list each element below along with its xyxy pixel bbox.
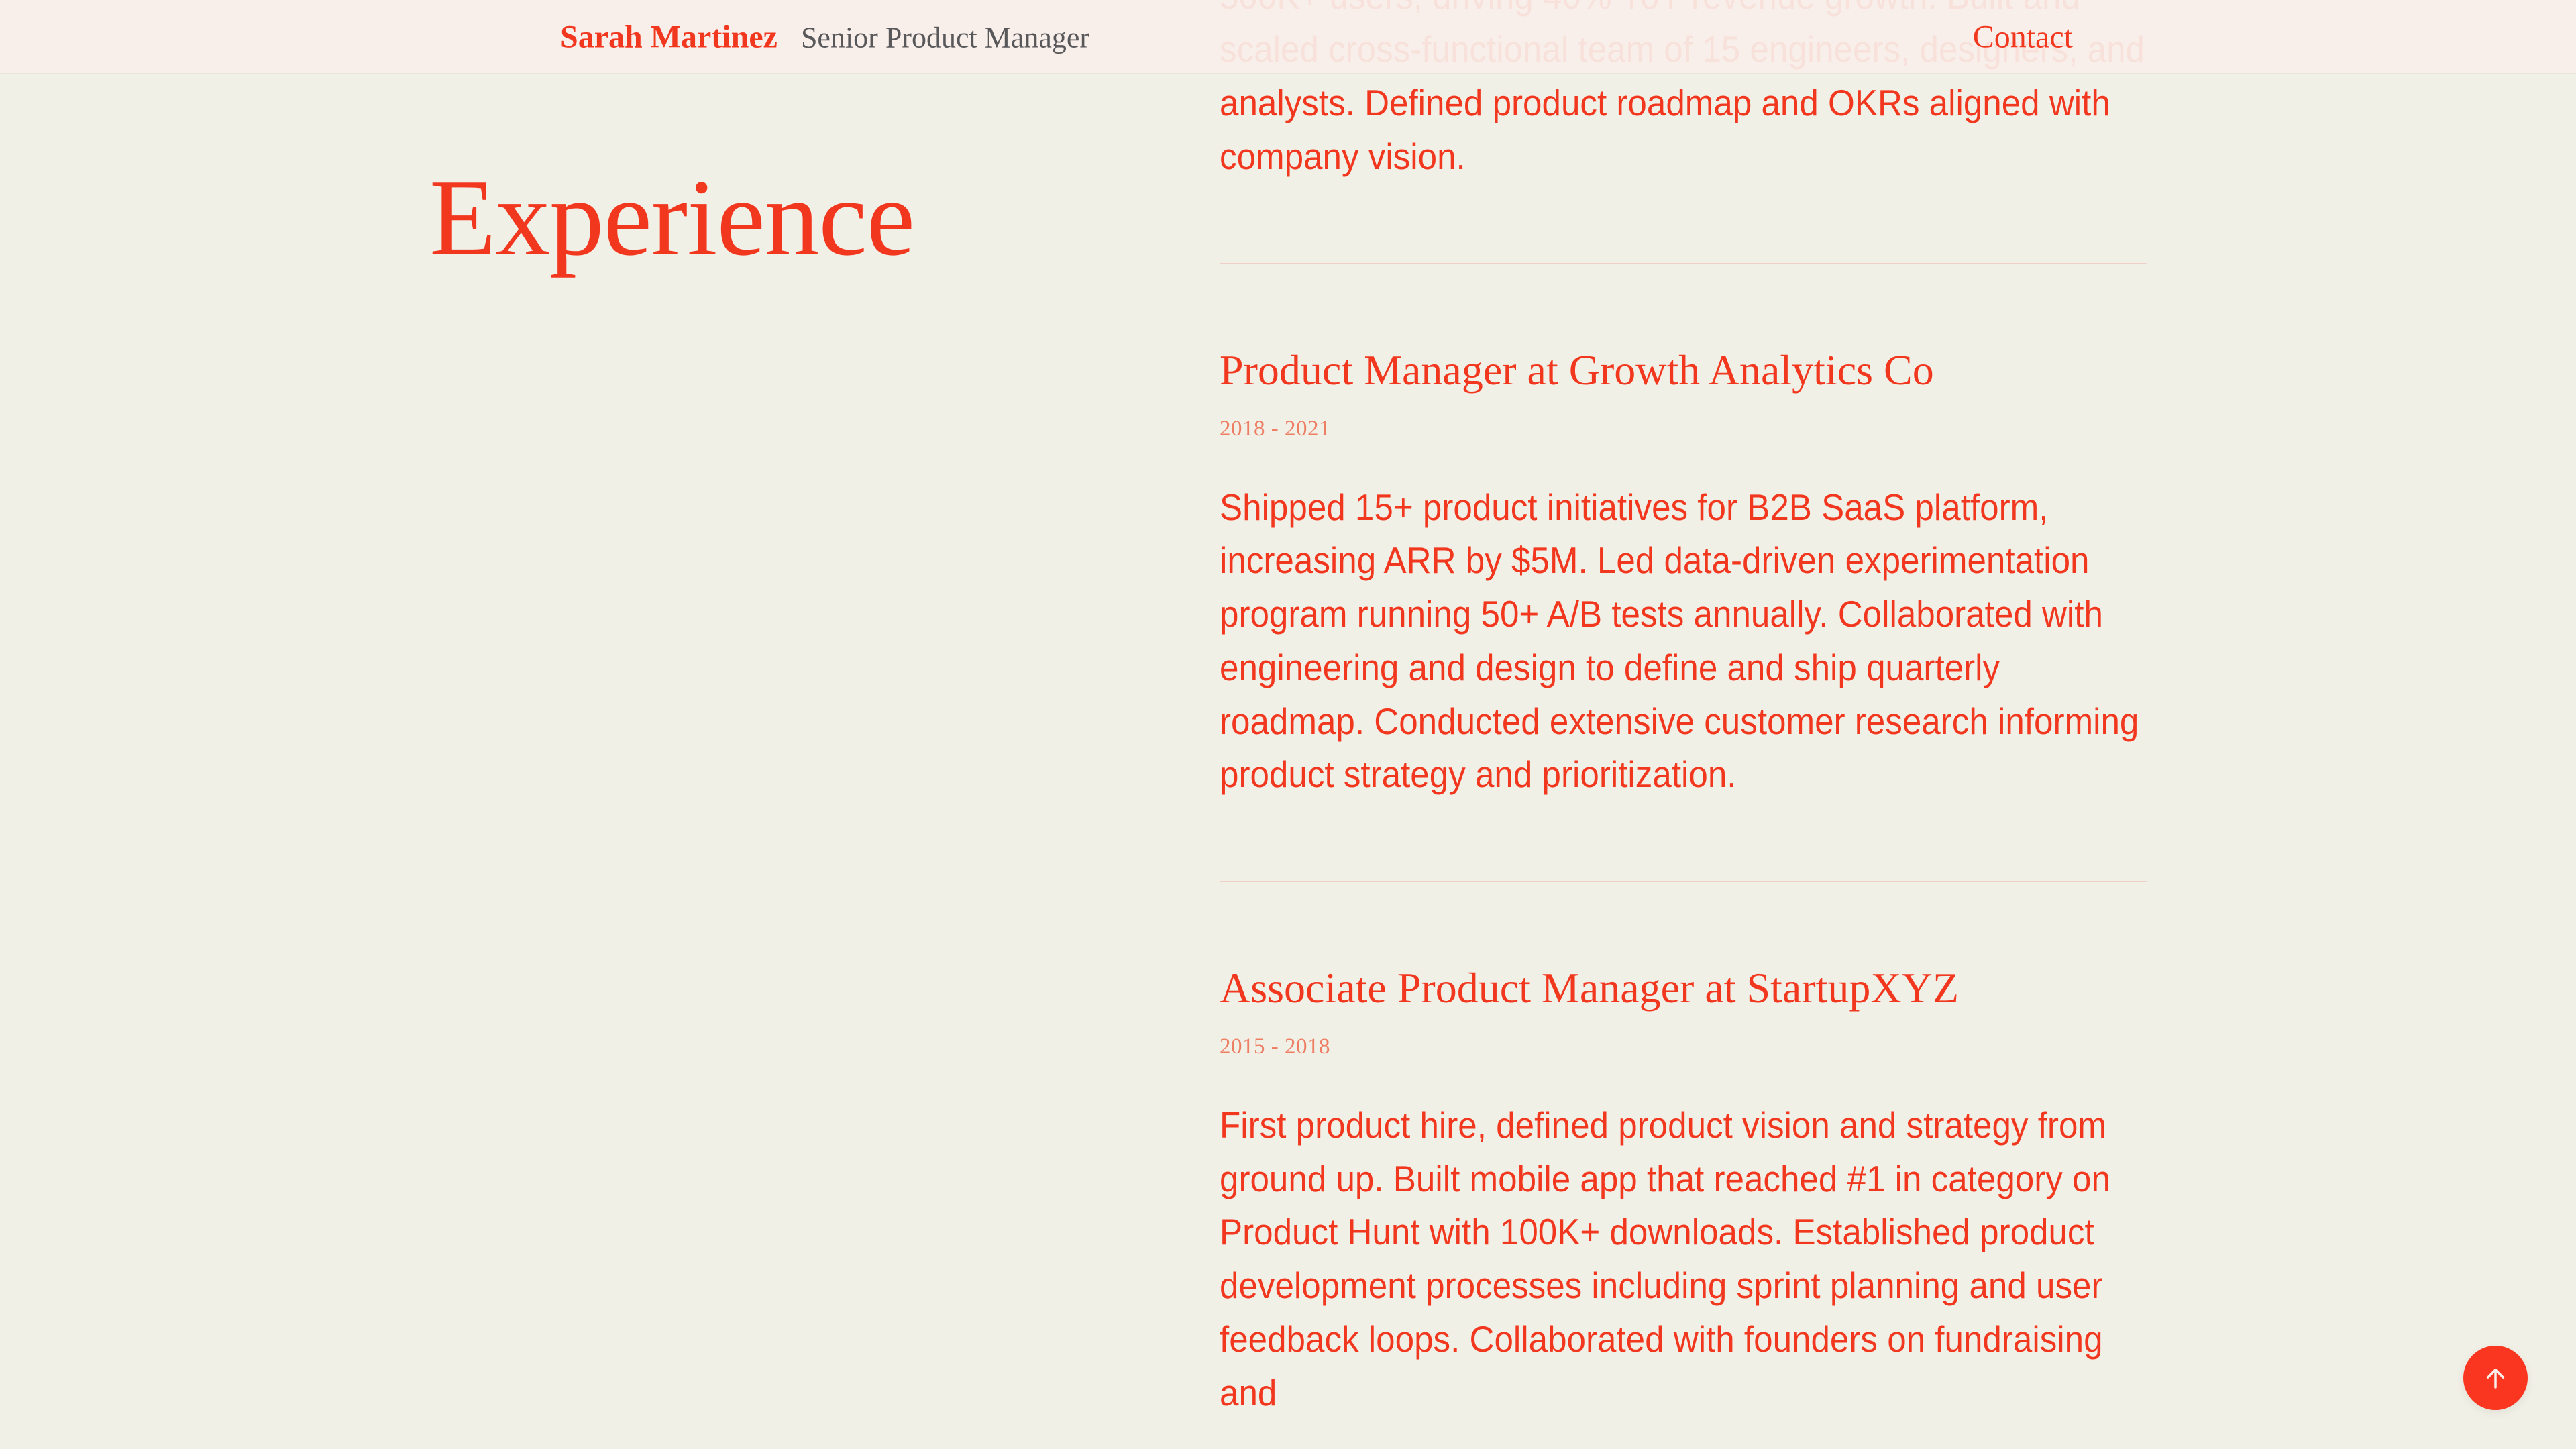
experience-item: Product Manager at Growth Analytics Co 2… xyxy=(1220,343,2149,802)
arrow-up-icon xyxy=(2481,1364,2510,1392)
scroll-to-top-button[interactable] xyxy=(2463,1346,2528,1410)
job-dates: 2015 - 2018 xyxy=(1220,1032,2149,1061)
left-column: Experience xyxy=(429,161,1100,276)
job-title: Associate Product Manager at StartupXYZ xyxy=(1220,961,2149,1015)
brand[interactable]: Sarah Martinez Senior Product Manager xyxy=(560,19,1089,56)
job-description: Shipped 15+ product initiatives for B2B … xyxy=(1220,481,2145,802)
job-dates: 2018 - 2021 xyxy=(1220,415,2149,443)
brand-role: Senior Product Manager xyxy=(801,21,1089,55)
job-title: Product Manager at Growth Analytics Co xyxy=(1220,343,2149,397)
experience-item: Associate Product Manager at StartupXYZ … xyxy=(1220,961,2149,1419)
job-description: First product hire, defined product visi… xyxy=(1220,1099,2145,1420)
experience-list: Director of Product at TechCorp Inc 2021… xyxy=(1220,0,2149,1419)
site-header: Sarah Martinez Senior Product Manager Co… xyxy=(0,0,2576,74)
brand-name: Sarah Martinez xyxy=(560,19,777,56)
nav-link-contact[interactable]: Contact xyxy=(1973,19,2073,56)
section-divider xyxy=(1220,263,2147,264)
page-root: Experience Director of Product at TechCo… xyxy=(0,0,2576,1449)
page-title: Experience xyxy=(429,161,1100,276)
section-divider xyxy=(1220,881,2147,882)
header-inner: Sarah Martinez Senior Product Manager Co… xyxy=(0,0,2576,74)
